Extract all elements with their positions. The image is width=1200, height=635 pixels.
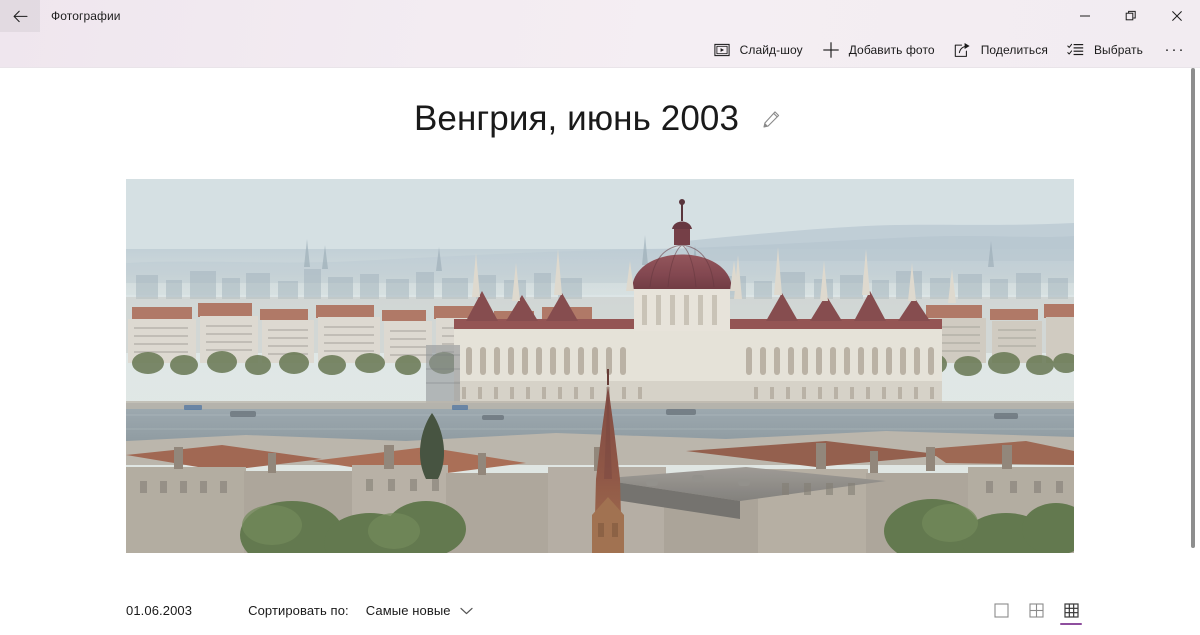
grid-2x2-icon	[1029, 603, 1044, 618]
minimize-button[interactable]	[1062, 0, 1108, 32]
view-single-button[interactable]	[986, 595, 1016, 627]
app-title: Фотографии	[51, 9, 121, 23]
share-icon	[953, 40, 973, 60]
sort-by-label: Сортировать по:	[248, 603, 349, 618]
command-bar: Слайд-шоу Добавить фото	[703, 32, 1200, 68]
view-mode-group	[981, 595, 1086, 627]
edit-album-title-button[interactable]	[756, 104, 786, 134]
select-label: Выбрать	[1094, 43, 1143, 57]
view-small-grid-button[interactable]	[1056, 595, 1086, 627]
more-horizontal-icon: ···	[1165, 46, 1186, 54]
square-icon	[994, 603, 1009, 618]
share-label: Поделиться	[981, 43, 1048, 57]
album-title[interactable]: Венгрия, июнь 2003	[414, 101, 739, 138]
share-button[interactable]: Поделиться	[944, 35, 1057, 65]
select-checklist-icon	[1066, 40, 1086, 60]
slideshow-label: Слайд-шоу	[740, 43, 803, 57]
album-title-row: Венгрия, июнь 2003	[0, 101, 1200, 138]
close-icon	[1171, 10, 1183, 22]
select-button[interactable]: Выбрать	[1057, 35, 1152, 65]
window-controls	[1062, 0, 1200, 32]
plus-icon	[821, 40, 841, 60]
sort-group: Сортировать по: Самые новые	[248, 599, 479, 622]
photo-date: 01.06.2003	[126, 603, 192, 618]
photos-app-window: Фотографии	[0, 0, 1200, 635]
title-bar: Фотографии	[0, 0, 1200, 32]
add-photo-label: Добавить фото	[849, 43, 935, 57]
vertical-scrollbar-track[interactable]	[1191, 68, 1195, 620]
vertical-scrollbar-thumb[interactable]	[1191, 68, 1195, 548]
album-photo[interactable]	[126, 179, 1074, 553]
content-area: Венгрия, июнь 2003	[0, 68, 1200, 635]
slideshow-button[interactable]: Слайд-шоу	[703, 35, 812, 65]
more-options-button[interactable]: ···	[1158, 35, 1192, 65]
minimize-icon	[1079, 10, 1091, 22]
chevron-down-icon	[460, 607, 473, 615]
view-small-grid-indicator	[1060, 623, 1082, 625]
grid-3x3-icon	[1064, 603, 1079, 618]
back-button[interactable]	[0, 0, 40, 32]
sort-dropdown[interactable]: Самые новые	[362, 599, 479, 622]
slideshow-icon	[712, 40, 732, 60]
close-button[interactable]	[1154, 0, 1200, 32]
add-photo-button[interactable]: Добавить фото	[812, 35, 944, 65]
bottom-bar: 01.06.2003 Сортировать по: Самые новые	[0, 586, 1200, 635]
budapest-parliament-photo	[126, 179, 1074, 553]
arrow-left-icon	[13, 10, 28, 23]
view-medium-grid-button[interactable]	[1021, 595, 1051, 627]
restore-icon	[1125, 10, 1137, 22]
pencil-icon	[762, 110, 781, 129]
maximize-button[interactable]	[1108, 0, 1154, 32]
header-zone: Фотографии	[0, 0, 1200, 68]
sort-selected-value: Самые новые	[366, 603, 451, 618]
